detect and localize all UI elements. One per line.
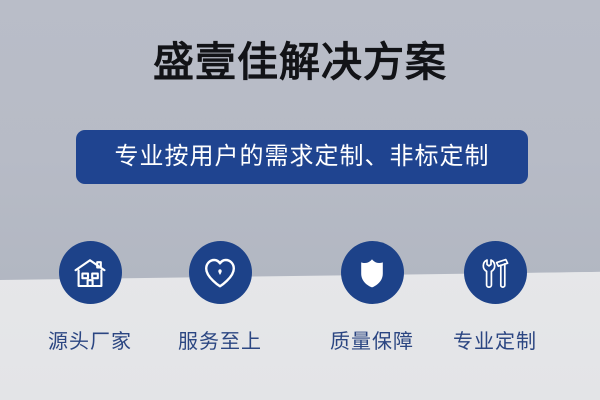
feature-label: 专业定制 — [425, 329, 565, 355]
subtitle-bar: 专业按用户的需求定制、非标定制 — [76, 130, 528, 184]
feature-icon-circle — [59, 241, 122, 304]
feature-item-custom-made: 专业定制 — [425, 241, 565, 355]
feature-item-quality-assurance: 质量保障 — [302, 241, 442, 355]
feature-icon-circle — [341, 241, 404, 304]
feature-label: 源头厂家 — [20, 329, 160, 355]
shield-icon — [357, 257, 387, 289]
feature-item-service-first: 服务至上 — [150, 241, 290, 355]
feature-item-source-factory: 源头厂家 — [20, 241, 160, 355]
feature-icon-circle — [189, 241, 252, 304]
subtitle-text: 专业按用户的需求定制、非标定制 — [115, 142, 490, 172]
feature-label: 服务至上 — [150, 329, 290, 355]
feature-list: 源头厂家 服务至上 — [0, 241, 600, 381]
page-title: 盛壹佳解决方案 — [0, 36, 600, 88]
promo-banner: 盛壹佳解决方案 专业按用户的需求定制、非标定制 — [0, 0, 600, 400]
feature-icon-circle — [464, 241, 527, 304]
tools-icon — [478, 257, 512, 289]
heart-icon — [203, 257, 237, 289]
feature-label: 质量保障 — [302, 329, 442, 355]
house-icon — [73, 257, 107, 289]
